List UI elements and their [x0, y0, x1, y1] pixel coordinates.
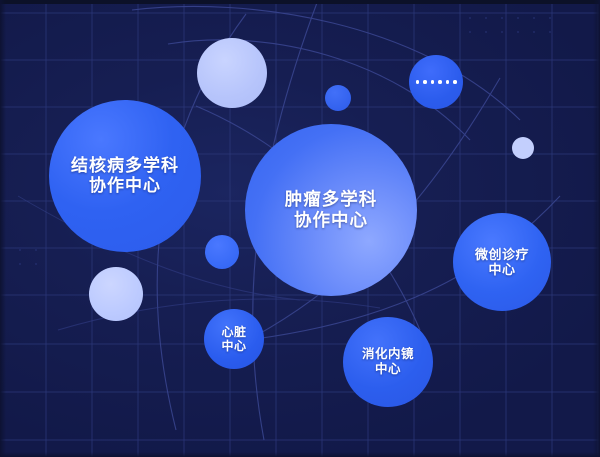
decor-circle-light-small [512, 137, 534, 159]
bubble-tuberculosis-center[interactable]: 结核病多学科 协作中心 [49, 100, 201, 252]
canvas-top-border [0, 0, 600, 4]
bubble-more-dots[interactable] [409, 55, 463, 109]
decor-circle-light-left [89, 267, 143, 321]
canvas-left-vignette [0, 0, 6, 457]
bubble-digestive-endoscopy-center[interactable]: 消化内镜 中心 [343, 317, 433, 407]
canvas-bottom-vignette [0, 452, 600, 457]
bubble-label: 消化内镜 中心 [362, 347, 414, 377]
more-dots-icon [416, 80, 457, 84]
bubble-tumor-center[interactable]: 肿瘤多学科 协作中心 [245, 124, 417, 296]
bubble-minimally-invasive-center[interactable]: 微创诊疗 中心 [453, 213, 551, 311]
bubble-label: 心脏 中心 [221, 325, 246, 353]
bubble-heart-center[interactable]: 心脏 中心 [204, 309, 264, 369]
canvas-right-vignette [593, 0, 600, 457]
decor-circle-light-top [197, 38, 267, 108]
bubble-label: 结核病多学科 协作中心 [71, 156, 179, 196]
infographic-canvas: 结核病多学科 协作中心 肿瘤多学科 协作中心 微创诊疗 中心 消化内镜 中心 心… [0, 0, 600, 457]
decor-circle-blue-tiny [325, 85, 351, 111]
bubble-label: 肿瘤多学科 协作中心 [285, 189, 378, 230]
decor-circle-blue-mid [205, 235, 239, 269]
bubble-label: 微创诊疗 中心 [475, 247, 529, 278]
